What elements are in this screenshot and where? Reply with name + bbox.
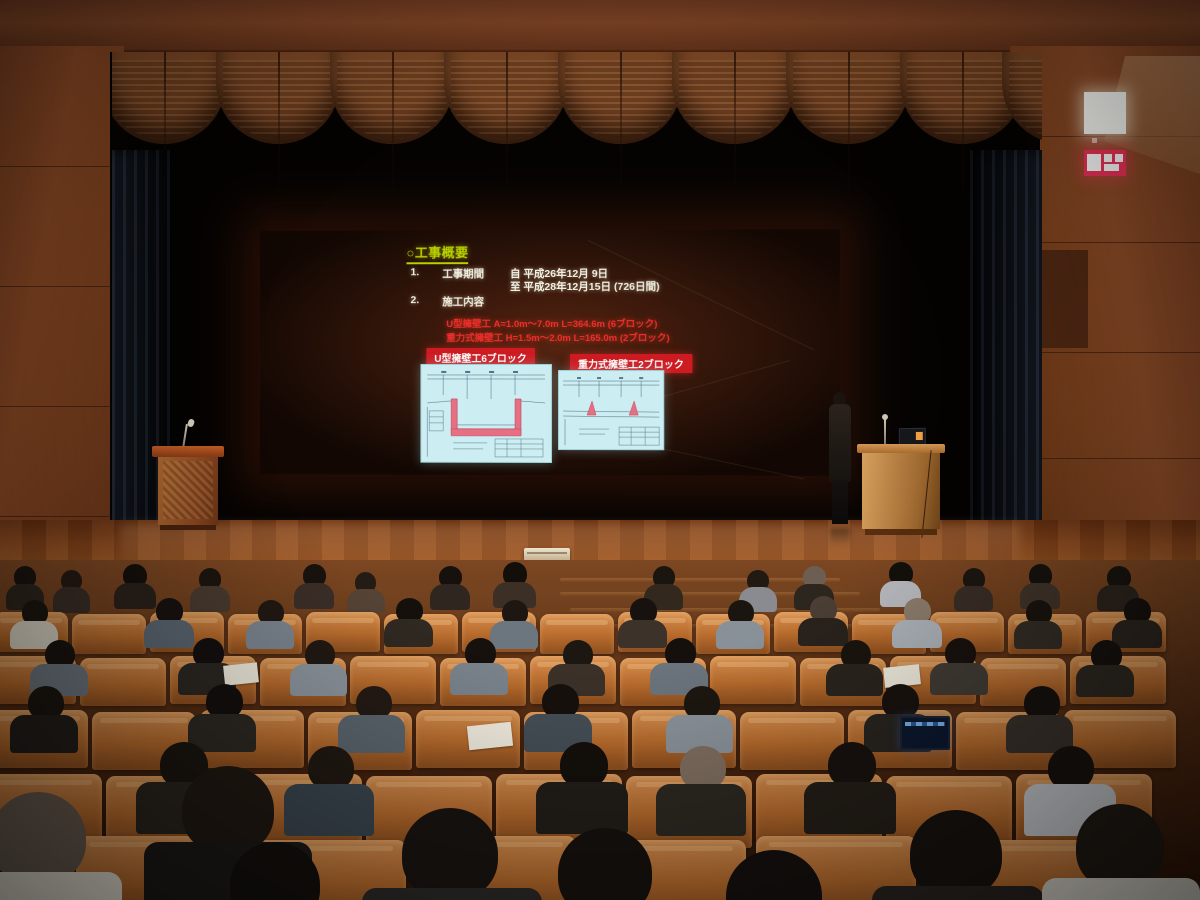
operator-lectern[interactable] (862, 444, 940, 536)
lectern-microphone-icon (882, 414, 888, 420)
period-to: 至 平成28年12月15日 (726日間) (510, 279, 660, 294)
laptop-screen-glow (916, 432, 923, 440)
slide-title: ○工事概要 (406, 242, 468, 264)
theater-seat[interactable] (72, 614, 146, 654)
slide-item-1-label: 工事期間 (442, 266, 484, 281)
audience-laptop[interactable] (900, 716, 950, 750)
lectern-microphone-stem (884, 418, 886, 446)
presenter-reflection (830, 528, 850, 546)
work-line-2: 重力式擁壁工 H=1.5m～2.0m L=165.0m (2ブロック) (446, 330, 669, 344)
illuminated-wall-sign (1084, 92, 1126, 178)
handout-paper (467, 722, 513, 750)
projection-screen: ○工事概要 1. 工事期間 自 平成26年12月 9日 至 平成28年12月15… (260, 229, 840, 476)
podium-body (158, 457, 218, 525)
sign-red-panel (1084, 150, 1126, 176)
work-line-1: U型擁壁工 A=1.0m～7.0m L=364.6m (6ブロック) (446, 316, 657, 330)
lectern-base (865, 529, 937, 535)
sign-indicator-dot (1092, 138, 1097, 143)
audience-house (0, 560, 1200, 900)
podium[interactable] (158, 446, 218, 530)
slide-item-2-number: 2. (410, 294, 419, 306)
valance-curtain (112, 52, 1042, 202)
standing-presenter (828, 392, 852, 528)
presenter-torso (829, 404, 851, 482)
slide-item-2-label: 施工内容 (442, 294, 484, 309)
lectern-top (857, 444, 945, 453)
theater-seat[interactable] (80, 658, 166, 706)
podium-top (152, 446, 224, 457)
auditorium-scene: ○工事概要 1. 工事期間 自 平成26年12月 9日 至 平成28年12月15… (0, 0, 1200, 900)
drawing-u-type-retaining-wall (420, 364, 552, 463)
sign-white-panel (1084, 92, 1126, 134)
slide-item-1-number: 1. (410, 266, 419, 278)
slide-content: ○工事概要 1. 工事期間 自 平成26年12月 9日 至 平成28年12月15… (260, 229, 840, 476)
presenter-legs (832, 480, 848, 524)
drawing-gravity-retaining-wall (558, 370, 664, 450)
right-stage-drape (970, 150, 1042, 550)
theater-seat[interactable] (710, 656, 796, 704)
handout-paper (223, 662, 259, 685)
podium-base (160, 525, 216, 530)
